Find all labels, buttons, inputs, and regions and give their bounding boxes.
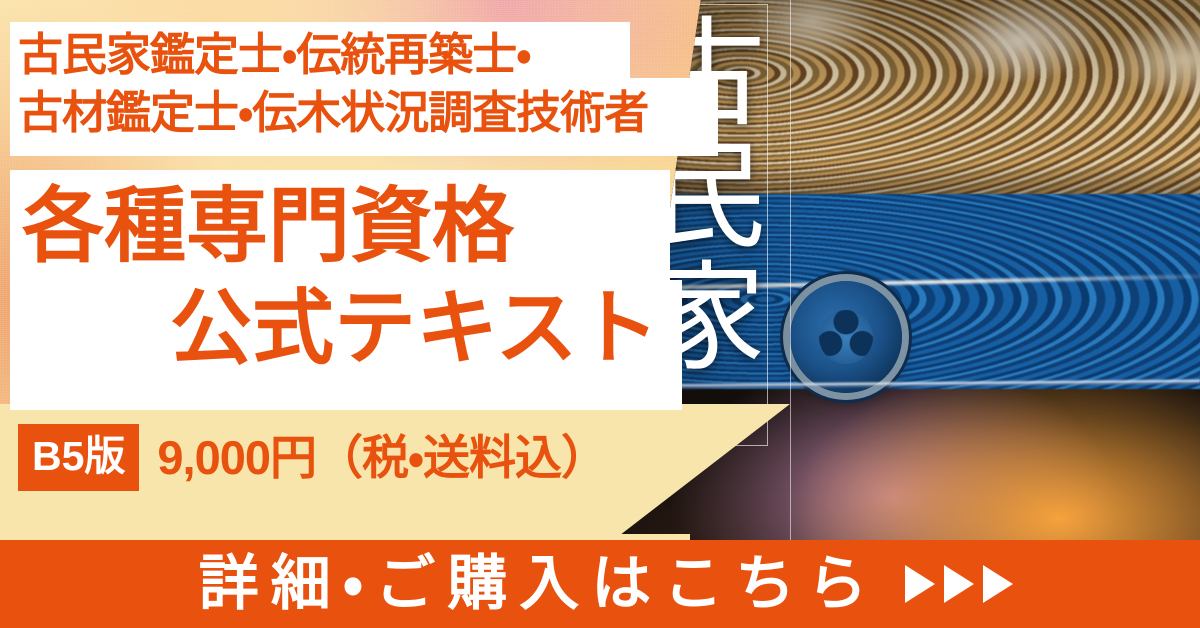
cta-bar[interactable]: 詳細・ご購入はこちら <box>0 540 1200 628</box>
certification-text: 古民家鑑定士・伝統再築士・ 古材鑑定士・伝木状況調査技術者 <box>18 26 728 142</box>
cover-vertical-rule <box>790 0 791 540</box>
certification-line-2: 古材鑑定士・伝木状況調査技術者 <box>18 84 728 142</box>
triangle-right-icon <box>983 565 1013 603</box>
headline-line-2: 公式テキスト <box>10 278 682 380</box>
headline-text: 各種専門資格 公式テキスト <box>10 176 682 380</box>
triangle-right-icon <box>905 565 935 603</box>
headline-line-1: 各種専門資格 <box>10 176 682 278</box>
price-row: B5版 9,000円（税・送料込） <box>18 424 607 491</box>
price-text: 9,000円（税・送料込） <box>157 434 607 481</box>
cta-arrow-group <box>905 565 1013 603</box>
format-badge: B5版 <box>18 424 139 491</box>
promo-banner: 古民家 伝統構法 古民家活用のための調査と再生の 古民家鑑定士・伝統再築士・ 古… <box>0 0 1200 628</box>
cta-label: 詳細・ご購入はこちら <box>187 554 879 614</box>
certification-line-1: 古民家鑑定士・伝統再築士・ <box>18 26 728 84</box>
triangle-right-icon <box>944 565 974 603</box>
